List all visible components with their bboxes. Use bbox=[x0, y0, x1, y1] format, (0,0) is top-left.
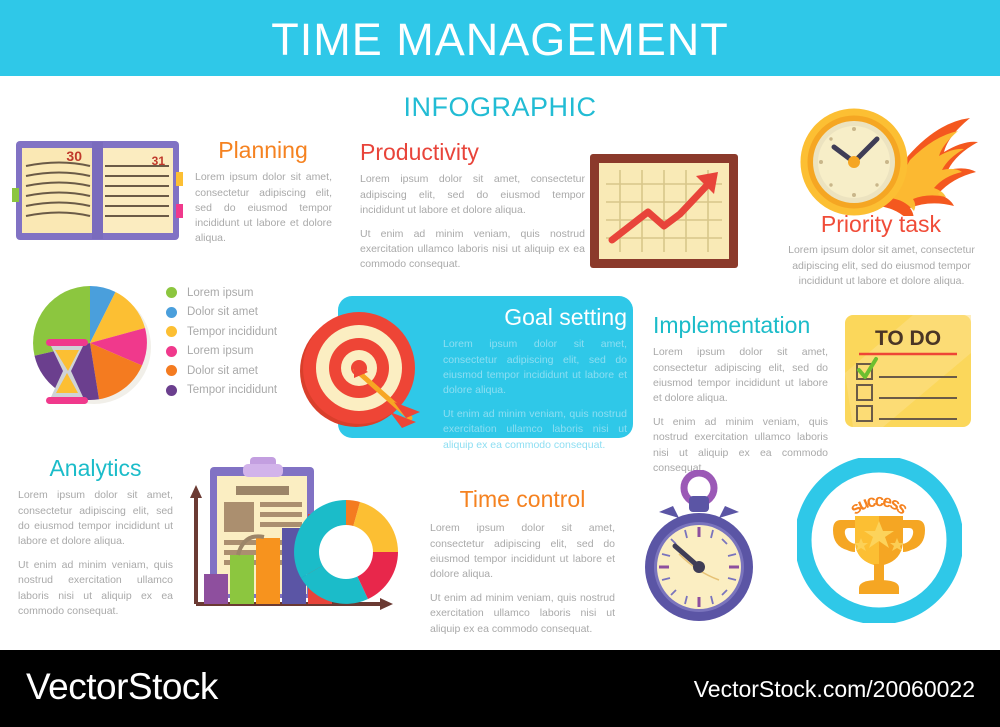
success-badge: success bbox=[797, 458, 962, 623]
legend-label: Dolor sit amet bbox=[187, 306, 258, 318]
pie-chart-legend: Lorem ipsum Dolor sit amet Tempor incidi… bbox=[166, 283, 277, 400]
productivity-text: Lorem ipsum dolor sit amet, consectetur … bbox=[360, 172, 585, 272]
goal-setting-title: Goal setting bbox=[443, 305, 627, 330]
framed-growth-chart-icon bbox=[588, 152, 740, 270]
page-title: TIME MANAGEMENT bbox=[0, 14, 1000, 66]
bar bbox=[204, 574, 228, 604]
legend-dot-icon bbox=[166, 346, 177, 357]
priority-task-title: Priority task bbox=[765, 212, 997, 237]
footer-brand: VectorStock bbox=[26, 666, 218, 708]
clipboard-bar-donut-icon bbox=[178, 452, 408, 624]
todo-note-icon: TO DO bbox=[843, 313, 973, 429]
productivity-paragraph-1: Lorem ipsum dolor sit amet, consectetur … bbox=[360, 172, 585, 218]
legend-item: Dolor sit amet bbox=[166, 303, 277, 323]
legend-dot-icon bbox=[166, 326, 177, 337]
implementation-paragraph-1: Lorem ipsum dolor sit amet, consectetur … bbox=[653, 345, 828, 406]
analytics-paragraph-1: Lorem ipsum dolor sit amet, consectetur … bbox=[18, 488, 173, 549]
burning-clock-icon bbox=[790, 108, 980, 216]
time-control-paragraph-2: Ut enim ad minim veniam, quis nostrud ex… bbox=[430, 591, 615, 637]
legend-label: Dolor sit amet bbox=[187, 365, 258, 377]
stopwatch-icon bbox=[637, 470, 761, 625]
implementation-title: Implementation bbox=[653, 313, 828, 338]
svg-text:31: 31 bbox=[152, 154, 166, 168]
analytics-paragraph-2: Ut enim ad minim veniam, quis nostrud ex… bbox=[18, 558, 173, 619]
legend-item: Lorem ipsum bbox=[166, 342, 277, 362]
analytics-text: Lorem ipsum dolor sit amet, consectetur … bbox=[18, 488, 173, 619]
goal-setting-text: Lorem ipsum dolor sit amet, consectetur … bbox=[443, 337, 627, 453]
productivity-title: Productivity bbox=[360, 140, 585, 165]
goal-setting-section: Goal setting Lorem ipsum dolor sit amet,… bbox=[443, 305, 627, 462]
time-control-text: Lorem ipsum dolor sit amet, consectetur … bbox=[430, 521, 615, 637]
planning-section: Planning Lorem ipsum dolor sit amet, con… bbox=[195, 138, 332, 246]
todo-note-title: TO DO bbox=[875, 327, 941, 350]
time-control-title: Time control bbox=[430, 487, 615, 512]
legend-item: Dolor sit amet bbox=[166, 361, 277, 381]
legend-label: Lorem ipsum bbox=[187, 345, 253, 357]
pie-chart-hourglass bbox=[26, 281, 158, 409]
time-control-paragraph-1: Lorem ipsum dolor sit amet, consectetur … bbox=[430, 521, 615, 582]
success-label: success bbox=[846, 491, 911, 519]
bar bbox=[256, 538, 280, 604]
analytics-section: Analytics Lorem ipsum dolor sit amet, co… bbox=[18, 456, 173, 628]
donut-chart bbox=[294, 500, 398, 604]
target-with-arrow-icon bbox=[298, 310, 424, 432]
priority-task-text: Lorem ipsum dolor sit amet, consectetur … bbox=[769, 243, 994, 289]
trophy-icon bbox=[833, 516, 925, 594]
legend-label: Tempor incididunt bbox=[187, 384, 277, 396]
productivity-paragraph-2: Ut enim ad minim veniam, quis nostrud ex… bbox=[360, 227, 585, 273]
legend-dot-icon bbox=[166, 365, 177, 376]
productivity-section: Productivity Lorem ipsum dolor sit amet,… bbox=[360, 140, 585, 282]
analytics-title: Analytics bbox=[18, 456, 173, 481]
planning-text: Lorem ipsum dolor sit amet, consectetur … bbox=[195, 170, 332, 246]
goal-paragraph-1: Lorem ipsum dolor sit amet, consectetur … bbox=[443, 337, 627, 398]
open-book-icon: 30 31 bbox=[10, 138, 185, 243]
priority-task-section: Priority task Lorem ipsum dolor sit amet… bbox=[765, 212, 997, 289]
legend-dot-icon bbox=[166, 307, 177, 318]
bar bbox=[230, 555, 254, 604]
planning-title: Planning bbox=[203, 138, 323, 163]
time-control-section: Time control Lorem ipsum dolor sit amet,… bbox=[430, 487, 615, 646]
footer-bar: VectorStock VectorStock.com/20060022 bbox=[0, 650, 1000, 727]
legend-dot-icon bbox=[166, 287, 177, 298]
legend-item: Lorem ipsum bbox=[166, 283, 277, 303]
implementation-text: Lorem ipsum dolor sit amet, consectetur … bbox=[653, 345, 828, 476]
legend-item: Tempor incididunt bbox=[166, 381, 277, 401]
goal-paragraph-2: Ut enim ad minim veniam, quis nostrud ex… bbox=[443, 407, 627, 453]
legend-label: Tempor incididunt bbox=[187, 326, 277, 338]
legend-dot-icon bbox=[166, 385, 177, 396]
pie-chart bbox=[26, 281, 158, 409]
legend-label: Lorem ipsum bbox=[187, 287, 253, 299]
infographic-page: TIME MANAGEMENT INFOGRAPHIC 30 31 bbox=[0, 0, 1000, 727]
legend-item: Tempor incididunt bbox=[166, 322, 277, 342]
svg-text:30: 30 bbox=[66, 148, 82, 164]
footer-url: VectorStock.com/20060022 bbox=[694, 676, 975, 703]
